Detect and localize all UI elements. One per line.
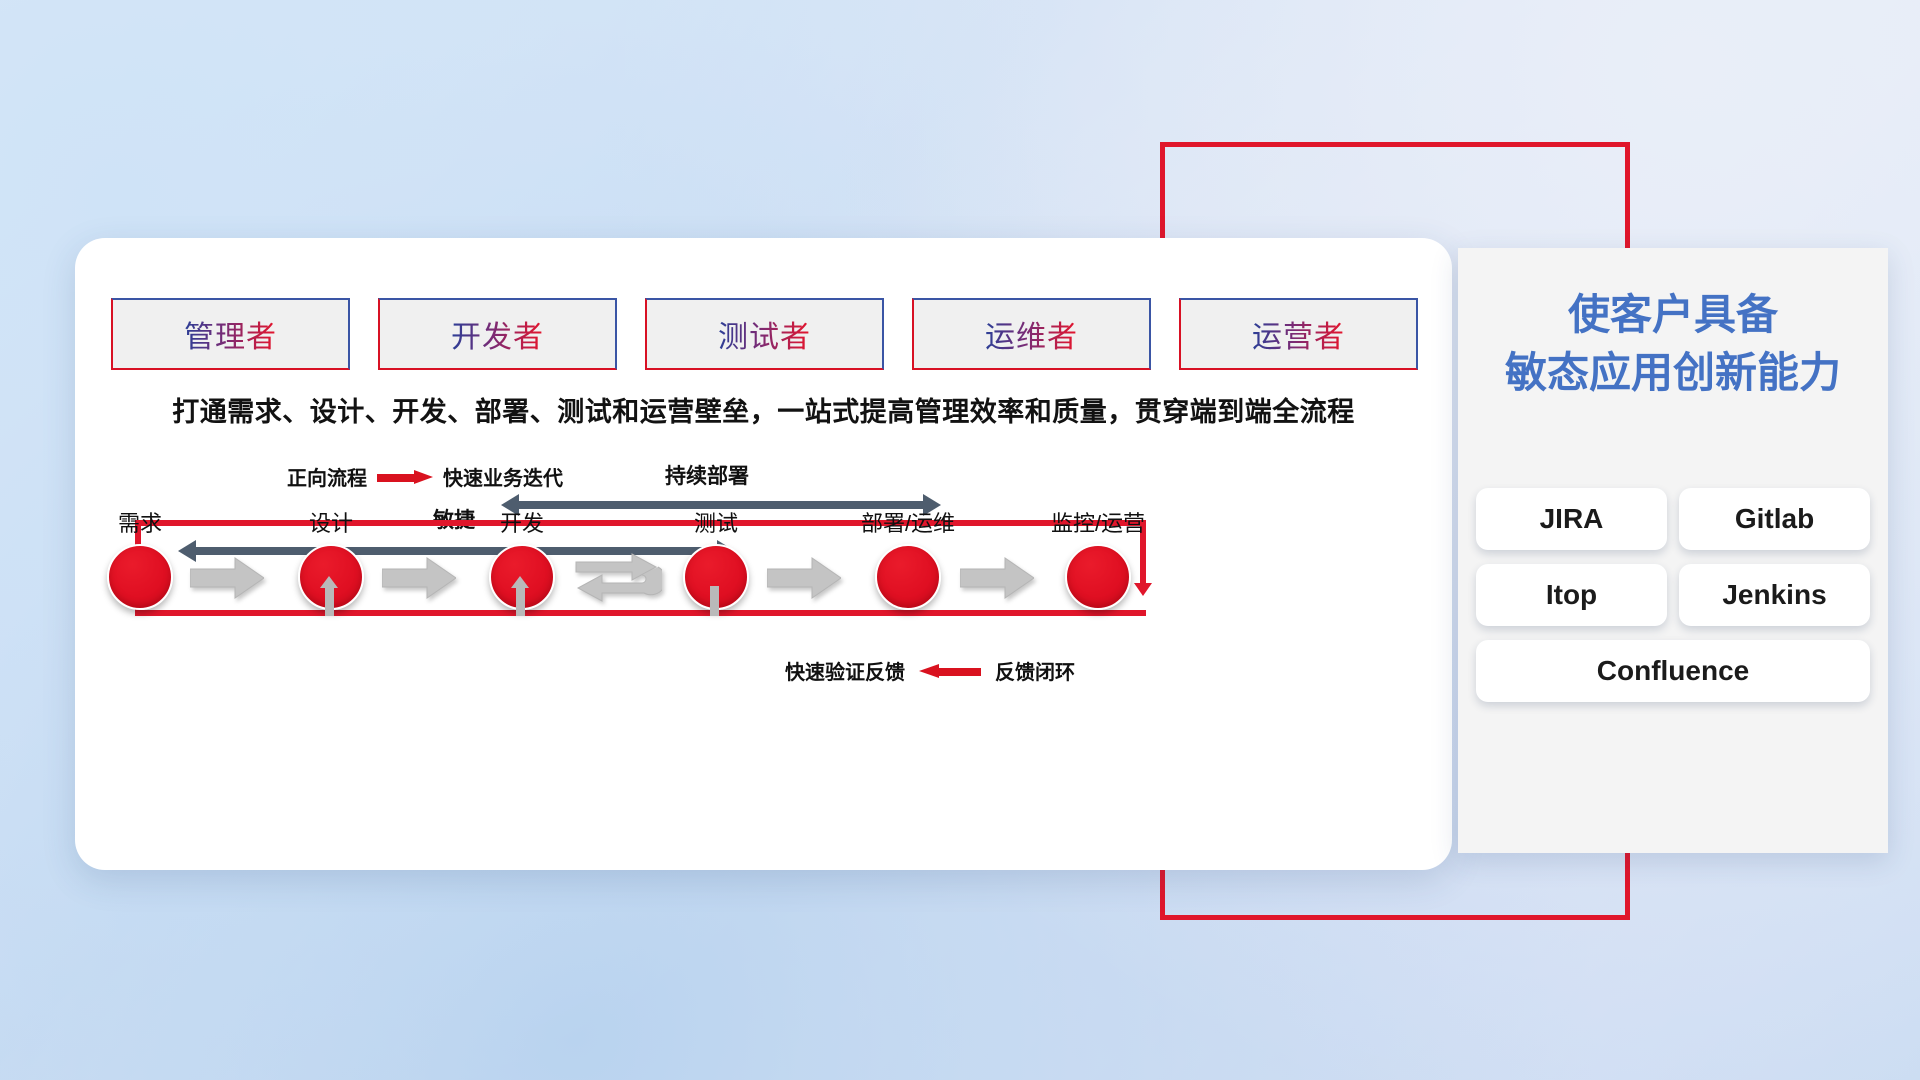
span-caption-continuous-deploy: 持续部署 xyxy=(665,460,749,490)
tool-item-gitlab[interactable]: Gitlab xyxy=(1679,488,1870,550)
tool-item-jenkins[interactable]: Jenkins xyxy=(1679,564,1870,626)
outer-loop-top xyxy=(1160,142,1630,147)
node-dot xyxy=(875,544,941,610)
arrow-right-gray-icon xyxy=(190,556,264,600)
role-box-ops[interactable]: 运维者 xyxy=(912,298,1151,370)
arrow-right-gray-icon xyxy=(382,556,456,600)
role-label: 开发者 xyxy=(451,312,544,356)
role-label: 测试者 xyxy=(718,312,811,356)
slide-canvas: 管理者 开发者 测试者 运维者 运营者 打通需求、设计、开发、部署、测试和运营壁… xyxy=(0,0,1920,1080)
pipeline-node-monitor-operate[interactable]: 监控/运营 xyxy=(1065,544,1131,610)
role-label: 管理者 xyxy=(184,312,277,356)
pipeline-node-label: 部署/运维 xyxy=(861,506,955,538)
inner-loop-bottom xyxy=(135,610,1146,616)
legend-forward-from-label: 正向流程 xyxy=(287,462,367,491)
arrow-right-gray-icon xyxy=(960,556,1034,600)
span-caption-agile: 敏捷 xyxy=(433,504,475,534)
tool-item-itop[interactable]: Itop xyxy=(1476,564,1667,626)
role-label: 运营者 xyxy=(1252,312,1345,356)
pipeline-node-label: 监控/运营 xyxy=(1051,506,1145,538)
riser-test xyxy=(710,586,719,616)
riser-head-develop xyxy=(511,576,529,588)
panel-title-line2: 敏态应用创新能力 xyxy=(1458,344,1888,402)
arrow-uturn-gray-icon xyxy=(572,546,662,608)
role-box-operator[interactable]: 运营者 xyxy=(1179,298,1418,370)
pipeline-node-label: 需求 xyxy=(118,506,162,538)
arrow-right-gray-icon xyxy=(767,556,841,600)
pipeline-node-label: 开发 xyxy=(500,506,544,538)
description-text: 打通需求、设计、开发、部署、测试和运营壁垒，一站式提高管理效率和质量，贯穿端到端… xyxy=(75,390,1452,429)
pipeline-node-label: 测试 xyxy=(694,506,738,538)
role-box-tester[interactable]: 测试者 xyxy=(645,298,884,370)
riser-develop xyxy=(516,586,525,616)
role-box-manager[interactable]: 管理者 xyxy=(111,298,350,370)
role-box-developer[interactable]: 开发者 xyxy=(378,298,617,370)
inner-loop-arrowhead-down xyxy=(1134,583,1152,596)
node-dot xyxy=(107,544,173,610)
role-label: 运维者 xyxy=(985,312,1078,356)
panel-title-line1: 使客户具备 xyxy=(1458,286,1888,344)
arrow-left-red-icon xyxy=(919,664,981,678)
legend-feedback-loop: 快速验证反馈 反馈闭环 xyxy=(785,656,1075,685)
outer-loop-bottom xyxy=(1160,915,1630,920)
role-box-row: 管理者 开发者 测试者 运维者 运营者 xyxy=(111,298,1418,370)
legend-forward-flow: 正向流程 快速业务迭代 xyxy=(287,462,563,491)
panel-title: 使客户具备 敏态应用创新能力 xyxy=(1458,286,1888,402)
legend-feedback-from-label: 反馈闭环 xyxy=(995,656,1075,685)
tool-item-jira[interactable]: JIRA xyxy=(1476,488,1667,550)
pipeline-node-requirement[interactable]: 需求 xyxy=(107,544,173,610)
main-card: 管理者 开发者 测试者 运维者 运营者 打通需求、设计、开发、部署、测试和运营壁… xyxy=(75,238,1452,870)
inner-loop-top xyxy=(135,520,1146,526)
pipeline-node-deploy-ops[interactable]: 部署/运维 xyxy=(875,544,941,610)
tool-item-confluence[interactable]: Confluence xyxy=(1476,640,1870,702)
legend-forward-to-label: 快速业务迭代 xyxy=(443,462,563,491)
riser-design xyxy=(325,586,334,616)
tool-list: JIRA Gitlab Itop Jenkins Confluence xyxy=(1476,488,1870,702)
legend-feedback-to-label: 快速验证反馈 xyxy=(785,656,905,685)
pipeline-node-label: 设计 xyxy=(309,506,353,538)
node-dot xyxy=(1065,544,1131,610)
riser-head-design xyxy=(320,576,338,588)
capability-panel: 使客户具备 敏态应用创新能力 JIRA Gitlab Itop Jenkins … xyxy=(1458,248,1888,853)
arrow-right-red-icon xyxy=(377,470,433,484)
